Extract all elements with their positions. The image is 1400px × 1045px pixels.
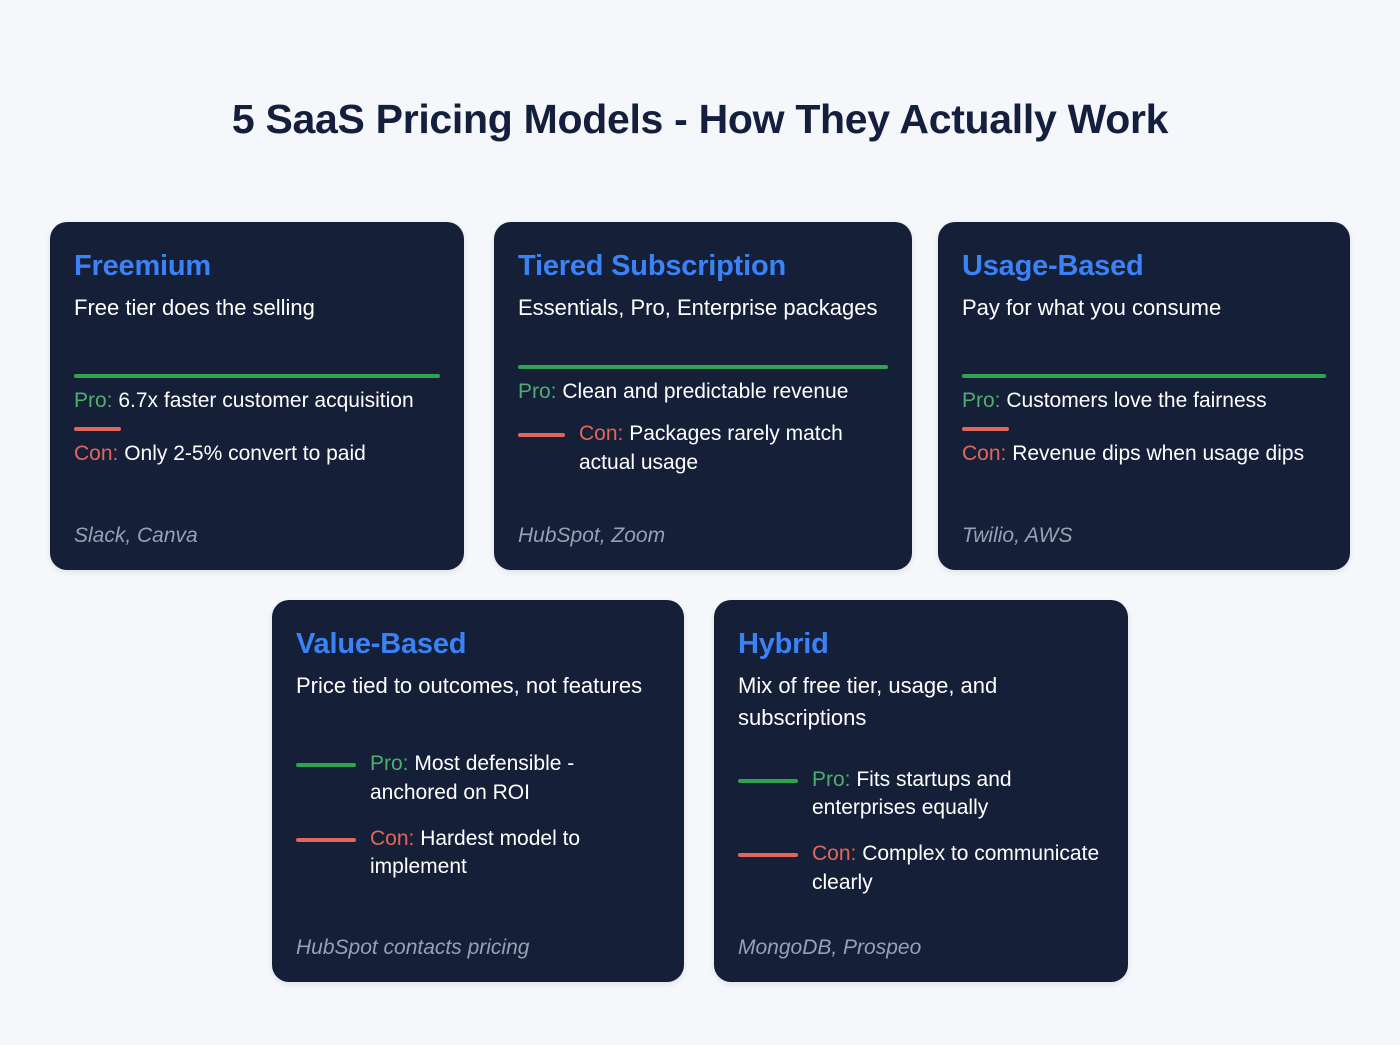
pro-point: Pro: 6.7x faster customer acquisition — [74, 387, 440, 415]
pro-label: Pro: — [518, 380, 557, 403]
card-examples: Slack, Canva — [74, 518, 440, 548]
page-title: 5 SaaS Pricing Models - How They Actuall… — [0, 96, 1400, 143]
card-title: Tiered Subscription — [518, 250, 888, 282]
pro-text: Clean and predictable revenue — [562, 380, 848, 403]
card-title: Freemium — [74, 250, 440, 282]
card-subtitle: Mix of free tier, usage, and subscriptio… — [738, 670, 1104, 732]
con-label: Con: — [74, 442, 118, 465]
pricing-model-card-value: Value-Based Price tied to outcomes, not … — [272, 600, 684, 982]
pricing-model-card-hybrid: Hybrid Mix of free tier, usage, and subs… — [714, 600, 1128, 982]
infographic-canvas: 5 SaaS Pricing Models - How They Actuall… — [0, 0, 1400, 1045]
card-subtitle: Price tied to outcomes, not features — [296, 670, 660, 701]
pro-con-list: Pro: Clean and predictable revenue Con: … — [518, 365, 888, 477]
card-subtitle: Essentials, Pro, Enterprise packages — [518, 292, 888, 323]
pro-label: Pro: — [370, 752, 409, 775]
con-point: Con: Hardest model to implement — [296, 825, 660, 882]
con-point: Con: Packages rarely match actual usage — [518, 420, 888, 477]
card-examples: HubSpot contacts pricing — [296, 930, 660, 960]
con-point: Con: Revenue dips when usage dips — [962, 440, 1326, 468]
card-title: Usage-Based — [962, 250, 1326, 282]
card-subtitle: Pay for what you consume — [962, 292, 1326, 323]
pro-point: Pro: Customers love the fairness — [962, 387, 1326, 415]
pro-point: Pro: Fits startups and enterprises equal… — [738, 766, 1104, 823]
pricing-model-card-tiered: Tiered Subscription Essentials, Pro, Ent… — [494, 222, 912, 570]
con-dash-icon — [738, 853, 798, 857]
pro-dash-icon — [296, 763, 356, 767]
pricing-model-card-freemium: Freemium Free tier does the selling Pro:… — [50, 222, 464, 570]
pro-rule-icon — [518, 365, 888, 369]
pro-text: 6.7x faster customer acquisition — [118, 389, 413, 412]
card-subtitle: Free tier does the selling — [74, 292, 440, 323]
pro-text: Customers love the fairness — [1006, 389, 1266, 412]
con-dash-icon — [74, 427, 121, 431]
con-label: Con: — [579, 422, 623, 445]
card-examples: HubSpot, Zoom — [518, 518, 888, 548]
pro-label: Pro: — [812, 768, 851, 791]
card-examples: MongoDB, Prospeo — [738, 930, 1104, 960]
pro-con-list: Pro: Customers love the fairness Con: Re… — [962, 374, 1326, 469]
con-text: Complex to communicate clearly — [812, 842, 1099, 893]
con-dash-icon — [296, 838, 356, 842]
card-title: Hybrid — [738, 628, 1104, 660]
pro-con-list: Pro: 6.7x faster customer acquisition Co… — [74, 374, 440, 469]
pro-rule-icon — [74, 374, 440, 378]
pro-point: Pro: Most defensible - anchored on ROI — [296, 750, 660, 807]
card-examples: Twilio, AWS — [962, 518, 1326, 548]
pro-rule-icon — [962, 374, 1326, 378]
con-label: Con: — [812, 842, 856, 865]
pro-dash-icon — [738, 779, 798, 783]
con-point: Con: Only 2-5% convert to paid — [74, 440, 440, 468]
pro-con-list: Pro: Most defensible - anchored on ROI C… — [296, 750, 660, 881]
con-dash-icon — [962, 427, 1009, 431]
pricing-model-card-usage: Usage-Based Pay for what you consume Pro… — [938, 222, 1350, 570]
pro-point: Pro: Clean and predictable revenue — [518, 378, 888, 406]
con-point: Con: Complex to communicate clearly — [738, 840, 1104, 897]
card-title: Value-Based — [296, 628, 660, 660]
pro-label: Pro: — [962, 389, 1001, 412]
con-label: Con: — [962, 442, 1006, 465]
pro-con-list: Pro: Fits startups and enterprises equal… — [738, 766, 1104, 897]
con-dash-icon — [518, 433, 565, 437]
pro-label: Pro: — [74, 389, 113, 412]
con-text: Only 2-5% convert to paid — [124, 442, 366, 465]
con-text: Revenue dips when usage dips — [1012, 442, 1304, 465]
con-label: Con: — [370, 827, 414, 850]
